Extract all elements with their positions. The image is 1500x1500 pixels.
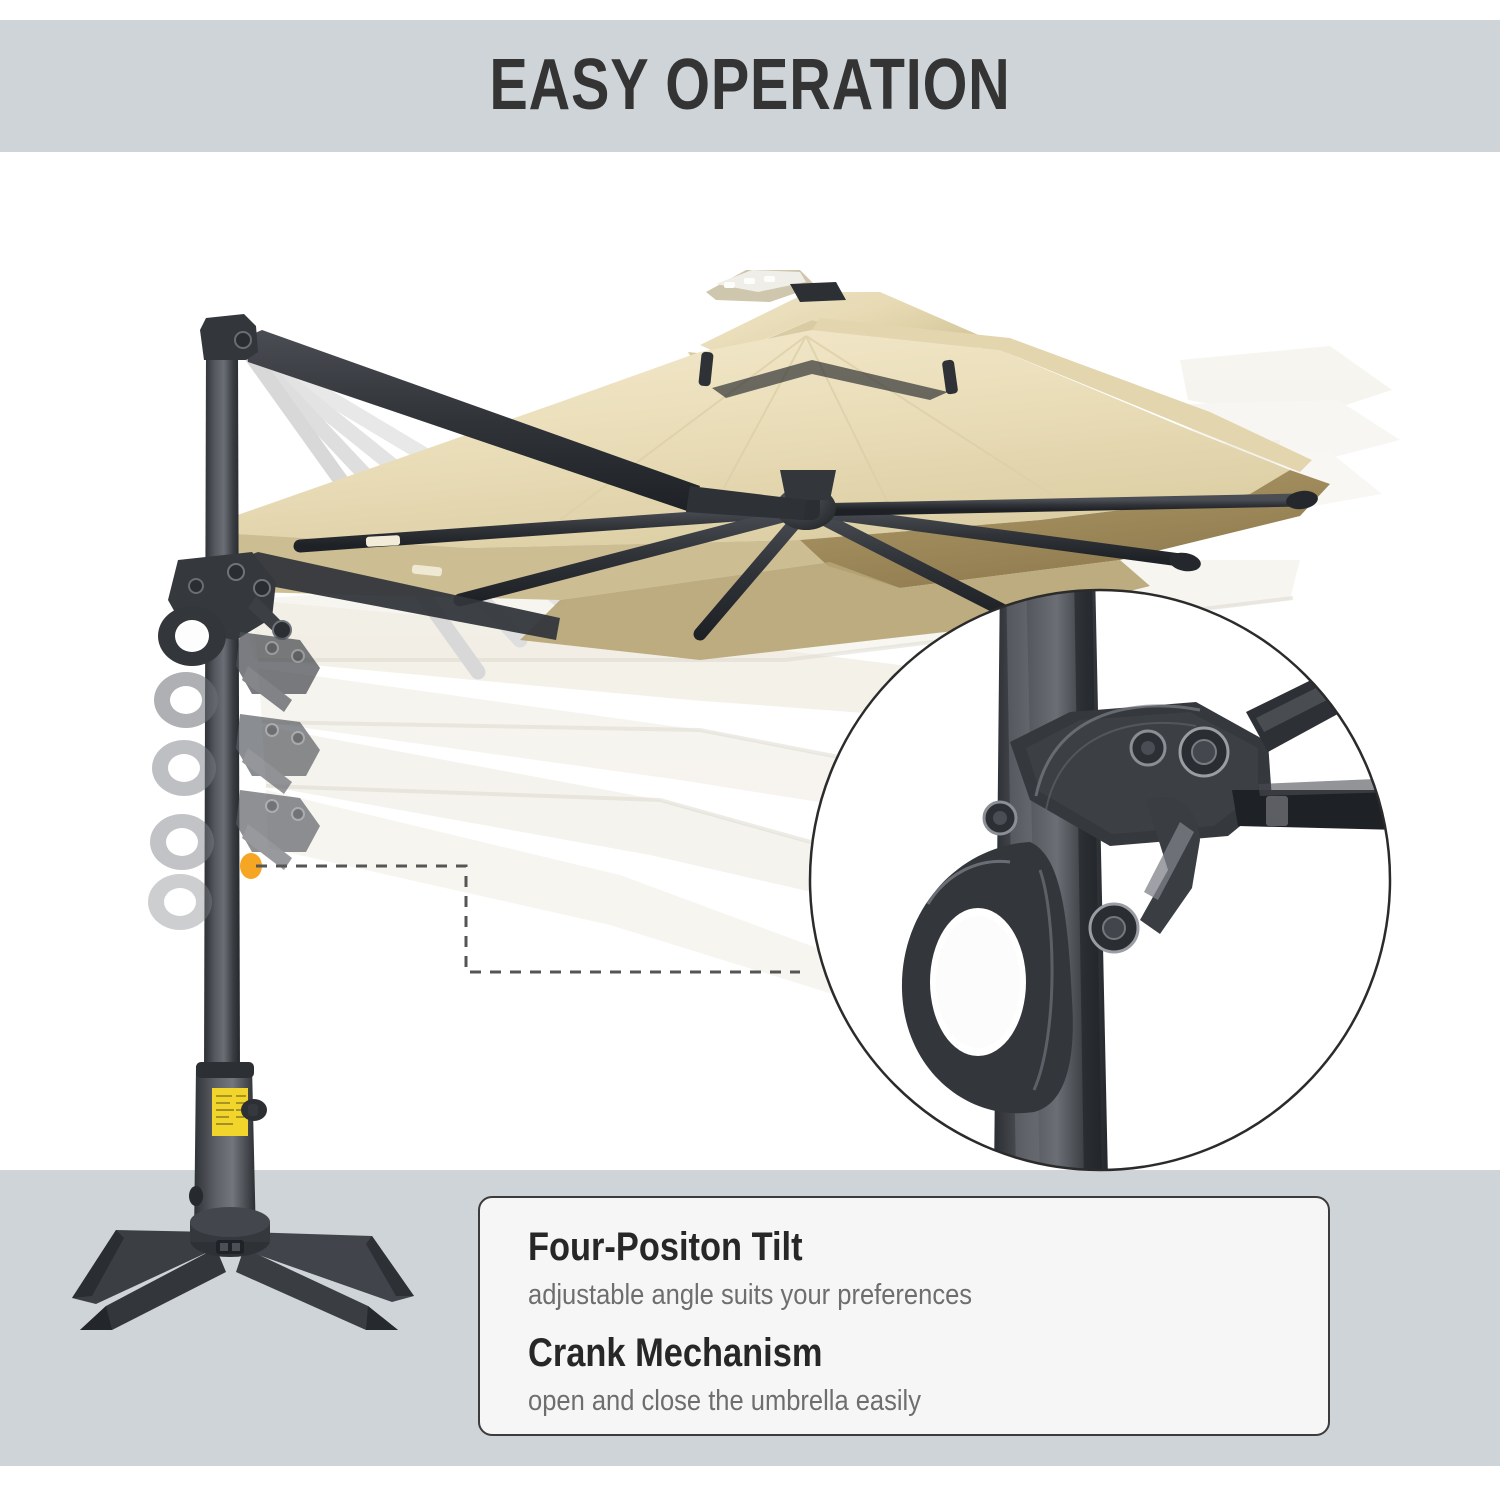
top-pivot (200, 314, 258, 360)
feature-card: Four-Positon Tilt adjustable angle suits… (478, 1196, 1330, 1436)
crank-handle (241, 1099, 267, 1121)
feature-title-2: Crank Mechanism (528, 1328, 1216, 1378)
feature-subtitle-2: open and close the umbrella easily (528, 1378, 1232, 1424)
solar-led-panel (706, 270, 846, 302)
tilt-mechanism-magnifier (810, 570, 1400, 1180)
product-feature-image: EASY OPERATION (0, 0, 1500, 1500)
feature-title-1: Four-Positon Tilt (528, 1222, 1216, 1272)
feature-subtitle-1: adjustable angle suits your preferences (528, 1272, 1232, 1318)
cross-base (72, 1207, 414, 1330)
